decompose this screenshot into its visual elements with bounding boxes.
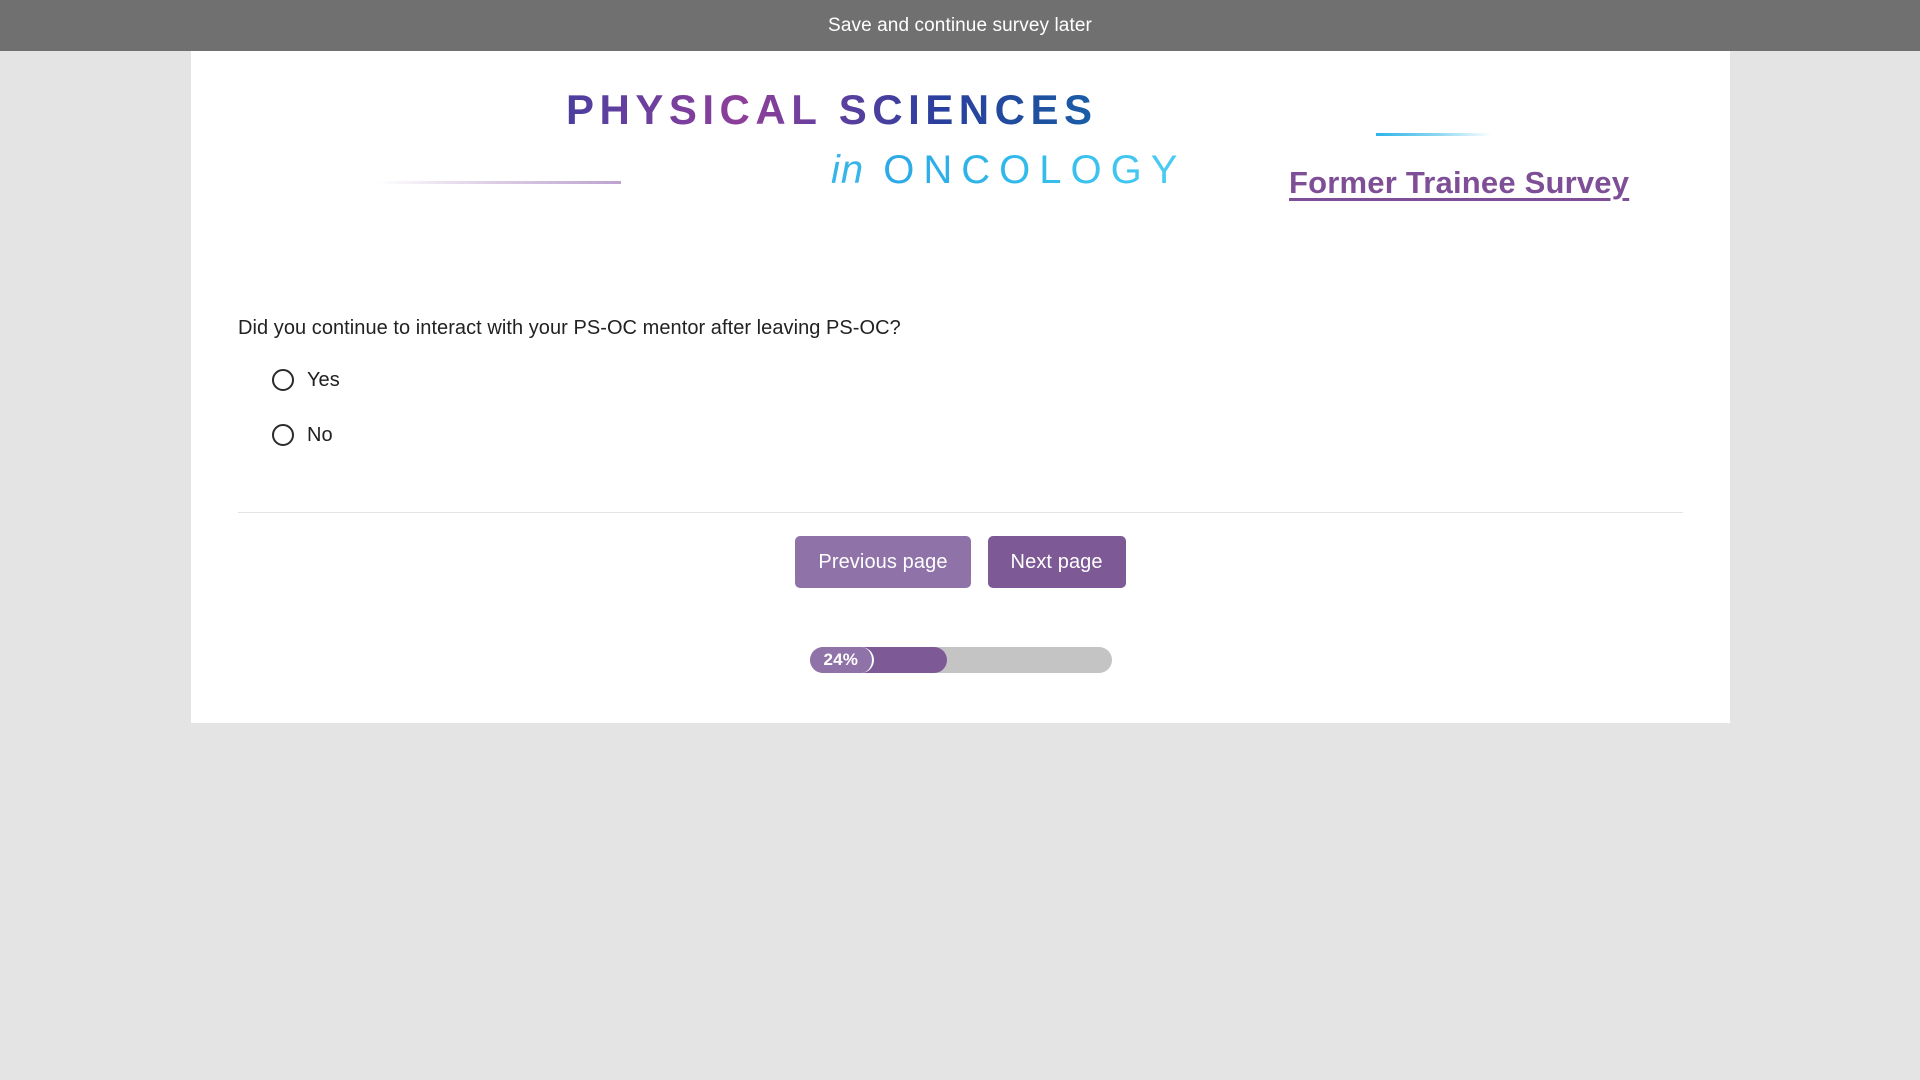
logo-word-in: in (831, 148, 864, 192)
progress-percent-label: 24% (810, 647, 875, 673)
logo-rule-right-icon (1376, 133, 1491, 136)
psoc-logo: PHYSICAL SCIENCES in ONCOLOGY (376, 86, 1091, 196)
previous-page-button[interactable]: Previous page (795, 536, 970, 588)
next-page-button[interactable]: Next page (988, 536, 1126, 588)
top-bar: Save and continue survey later (0, 0, 1920, 51)
page-title: Former Trainee Survey (1289, 165, 1629, 201)
survey-header: PHYSICAL SCIENCES in ONCOLOGY Former Tra… (191, 69, 1730, 209)
logo-line-physical-sciences: PHYSICAL SCIENCES (566, 86, 1098, 134)
save-and-continue-later-link[interactable]: Save and continue survey later (828, 16, 1092, 35)
section-divider (238, 512, 1683, 513)
logo-line-in-oncology: in ONCOLOGY (831, 148, 1186, 193)
logo-rule-left-icon (376, 181, 621, 184)
survey-card: PHYSICAL SCIENCES in ONCOLOGY Former Tra… (191, 51, 1730, 723)
option-row-no[interactable]: No (272, 415, 1683, 455)
radio-button-yes[interactable] (272, 369, 294, 391)
progress-bar: 24% (810, 647, 1112, 673)
navigation-buttons: Previous page Next page (191, 536, 1730, 588)
option-label-no: No (307, 424, 333, 447)
option-label-yes: Yes (307, 369, 340, 392)
option-row-yes[interactable]: Yes (272, 360, 1683, 400)
progress-section: 24% (191, 647, 1730, 673)
logo-word-oncology: ONCOLOGY (883, 148, 1186, 192)
question-block: Did you continue to interact with your P… (238, 315, 1683, 470)
answer-options-group: Yes No (238, 360, 1683, 455)
question-text: Did you continue to interact with your P… (238, 315, 1683, 341)
radio-button-no[interactable] (272, 424, 294, 446)
